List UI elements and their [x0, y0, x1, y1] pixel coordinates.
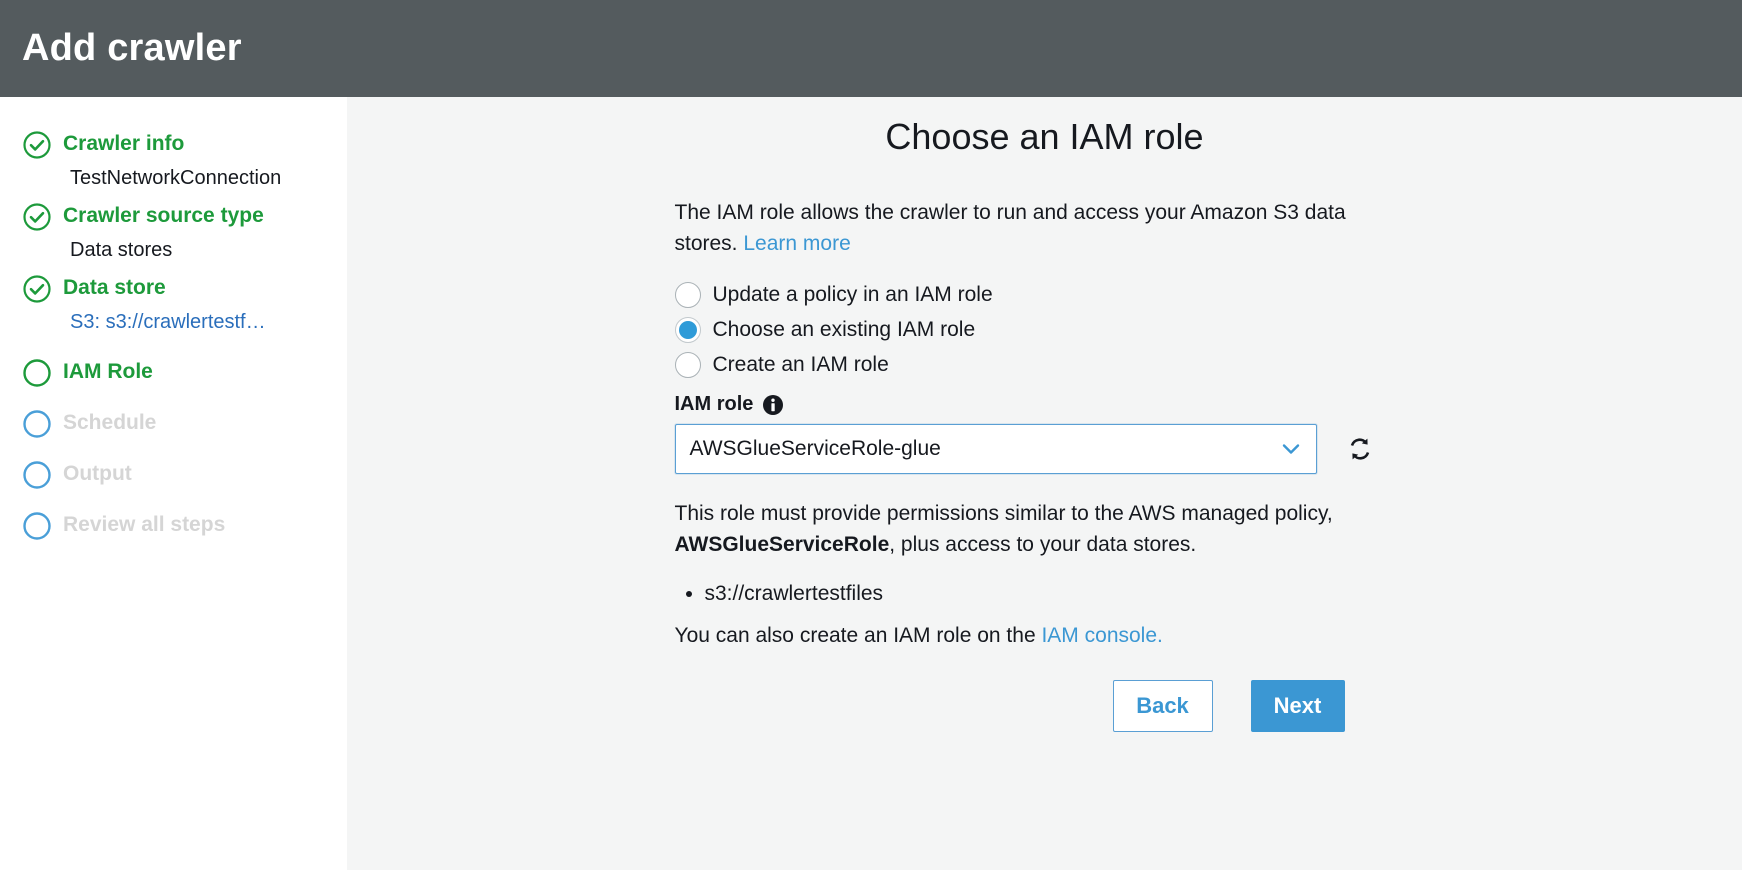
- wizard-actions: Back Next: [675, 680, 1375, 732]
- empty-circle-green-icon: [22, 358, 52, 388]
- sidebar-substep: TestNetworkConnection: [0, 163, 347, 193]
- wizard-sidebar: Crawler info TestNetworkConnection Crawl…: [0, 97, 347, 870]
- sidebar-step-schedule[interactable]: Schedule: [0, 408, 347, 439]
- radio-button[interactable]: [675, 282, 701, 308]
- sidebar-step-output[interactable]: Output: [0, 459, 347, 490]
- check-circle-icon: [22, 202, 52, 232]
- sidebar-step-label: Output: [63, 459, 132, 489]
- note-bold-policy: AWSGlueServiceRole: [675, 533, 890, 556]
- back-button[interactable]: Back: [1113, 680, 1213, 732]
- data-store-list: s3://crawlertestfiles: [675, 578, 1375, 610]
- sidebar-step-iam-role[interactable]: IAM Role: [0, 357, 347, 388]
- empty-circle-blue-icon: [22, 409, 52, 439]
- info-icon[interactable]: [762, 394, 784, 416]
- iam-console-line: You can also create an IAM role on the I…: [675, 624, 1375, 648]
- iam-console-link[interactable]: IAM console.: [1041, 624, 1162, 647]
- sidebar-step-data-store[interactable]: Data store S3: s3://crawlertestf…: [0, 273, 347, 337]
- sidebar-step-label: Crawler source type: [63, 201, 264, 231]
- main-content: Choose an IAM role The IAM role allows t…: [347, 97, 1742, 870]
- note-part2: , plus access to your data stores.: [889, 533, 1196, 556]
- sidebar-step-label: Review all steps: [63, 510, 225, 540]
- role-permissions-note: This role must provide permissions simil…: [675, 498, 1345, 560]
- chevron-down-icon[interactable]: [1278, 436, 1304, 462]
- sidebar-step-label: Crawler info: [63, 129, 184, 159]
- check-circle-icon: [22, 130, 52, 160]
- sidebar-step-label: Data store: [63, 273, 166, 303]
- radio-create-role[interactable]: Create an IAM role: [675, 351, 1375, 379]
- page-body: Crawler info TestNetworkConnection Crawl…: [0, 97, 1742, 870]
- iam-role-selected-value: AWSGlueServiceRole-glue: [690, 437, 941, 461]
- check-circle-icon: [22, 274, 52, 304]
- radio-choose-existing[interactable]: Choose an existing IAM role: [675, 316, 1375, 344]
- page-title: Add crawler: [22, 27, 242, 70]
- learn-more-link[interactable]: Learn more: [743, 232, 850, 255]
- radio-button-selected[interactable]: [675, 317, 701, 343]
- radio-update-policy[interactable]: Update a policy in an IAM role: [675, 281, 1375, 309]
- radio-label: Create an IAM role: [713, 351, 889, 379]
- page-header: Add crawler: [0, 0, 1742, 97]
- sidebar-step-label: Schedule: [63, 408, 156, 438]
- radio-label: Update a policy in an IAM role: [713, 281, 993, 309]
- iam-role-field-label-row: IAM role: [675, 393, 1375, 416]
- iam-role-option-group: Update a policy in an IAM role Choose an…: [675, 281, 1375, 379]
- iam-role-select-row: AWSGlueServiceRole-glue: [675, 424, 1375, 474]
- sidebar-step-label: IAM Role: [63, 357, 153, 387]
- refresh-icon[interactable]: [1345, 434, 1375, 464]
- section-heading: Choose an IAM role: [665, 115, 1425, 159]
- radio-label: Choose an existing IAM role: [713, 316, 976, 344]
- next-button[interactable]: Next: [1251, 680, 1345, 732]
- sidebar-substep-link[interactable]: S3: s3://crawlertestf…: [0, 307, 347, 337]
- empty-circle-blue-icon: [22, 460, 52, 490]
- empty-circle-blue-icon: [22, 511, 52, 541]
- iam-role-label: IAM role: [675, 393, 754, 416]
- sidebar-step-crawler-source-type[interactable]: Crawler source type Data stores: [0, 201, 347, 265]
- sidebar-substep: Data stores: [0, 235, 347, 265]
- radio-button[interactable]: [675, 352, 701, 378]
- add-crawler-wizard: Add crawler Crawler info TestNetworkConn…: [0, 0, 1742, 870]
- intro-paragraph: The IAM role allows the crawler to run a…: [675, 197, 1375, 259]
- iam-role-select[interactable]: AWSGlueServiceRole-glue: [675, 424, 1317, 474]
- sidebar-step-review-all-steps[interactable]: Review all steps: [0, 510, 347, 541]
- note-part1: This role must provide permissions simil…: [675, 502, 1333, 525]
- list-item: s3://crawlertestfiles: [705, 578, 1375, 610]
- sidebar-step-crawler-info[interactable]: Crawler info TestNetworkConnection: [0, 129, 347, 193]
- console-text: You can also create an IAM role on the: [675, 624, 1042, 647]
